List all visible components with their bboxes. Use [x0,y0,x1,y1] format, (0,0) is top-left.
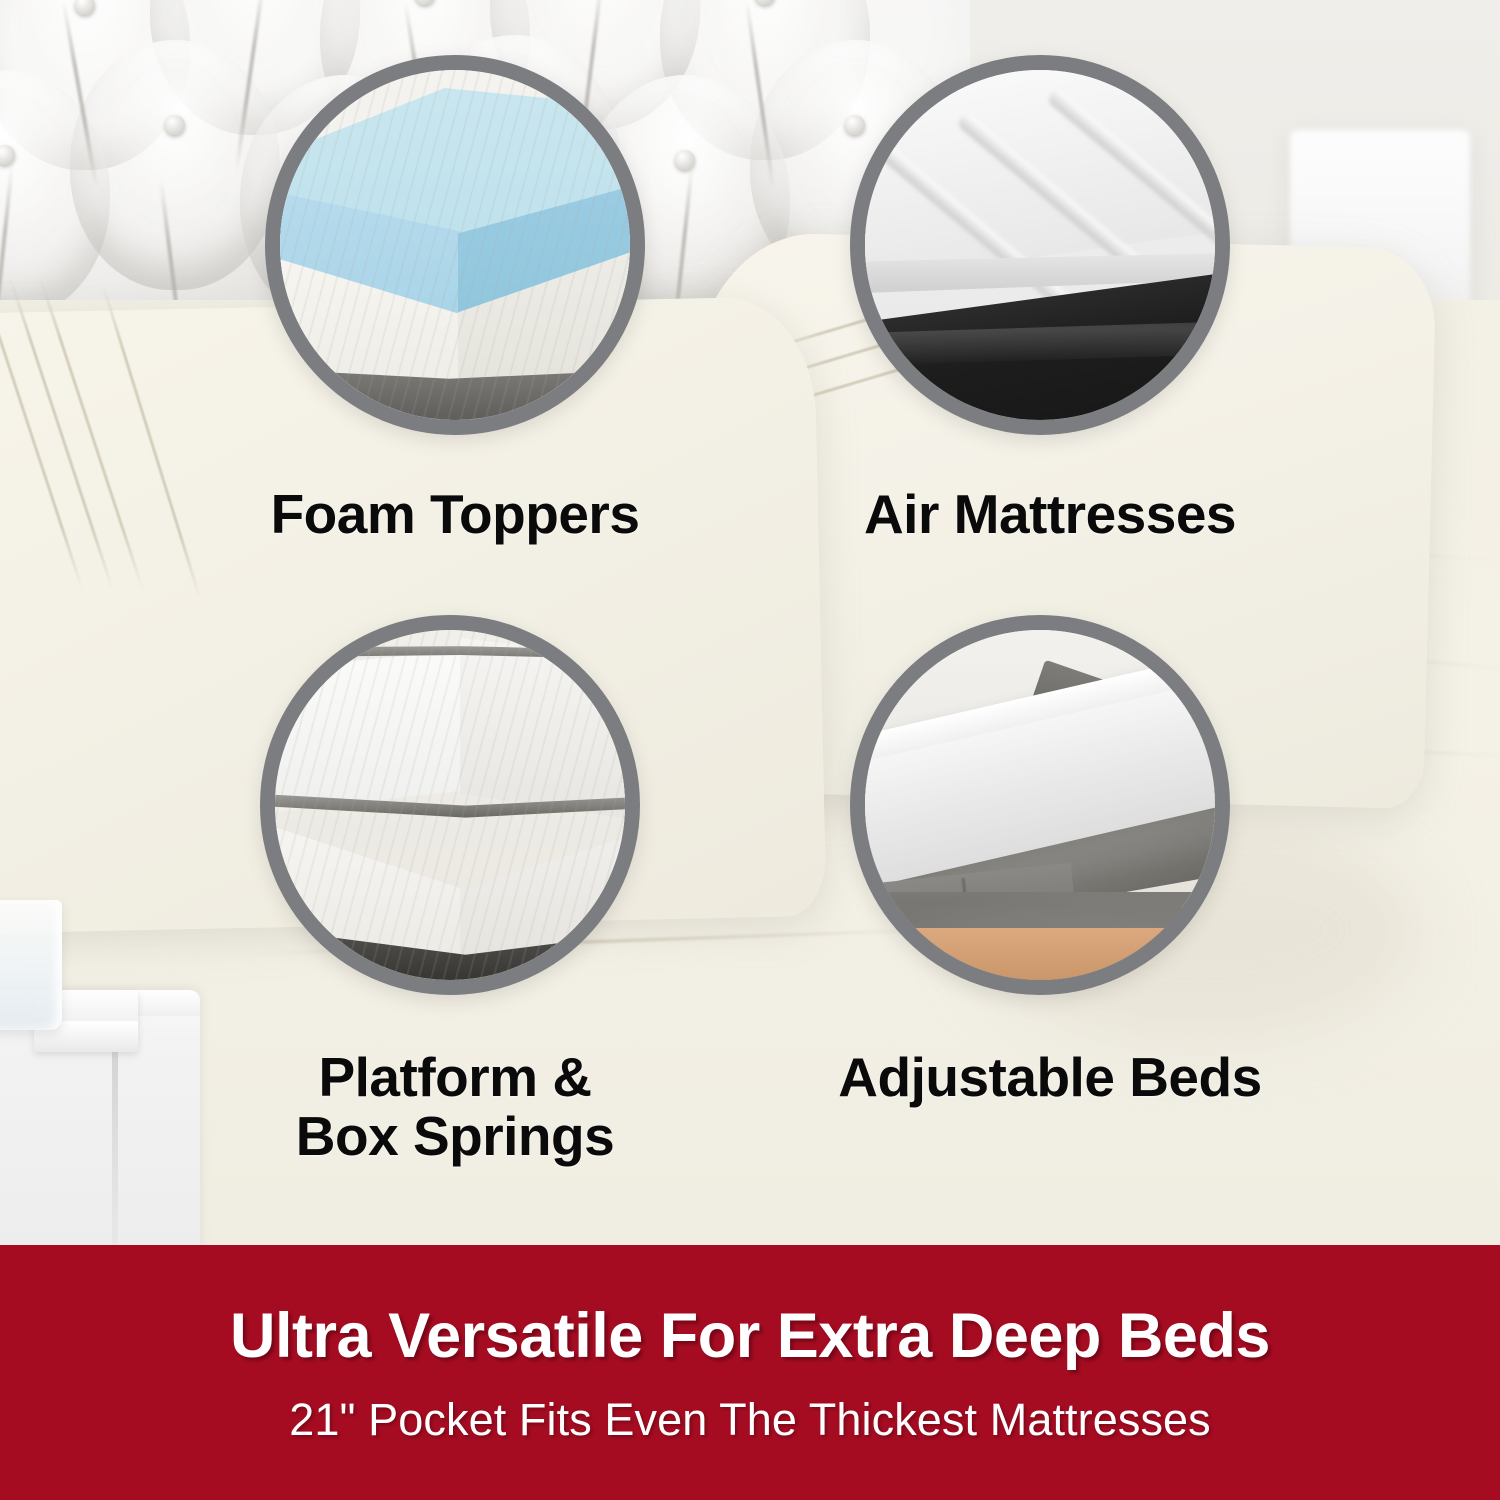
feature-inset-foam-toppers [265,55,645,435]
product-infographic: Foam Toppers Air Mattresses Platform & B… [0,0,1500,1500]
caption-adjustable-beds: Adjustable Beds [760,1048,1340,1107]
foam-topper-photo [280,70,630,420]
feature-inset-platform-box-springs [260,615,640,995]
box-spring-photo [275,630,625,980]
water-glass [0,900,62,1030]
bottom-banner: Ultra Versatile For Extra Deep Beds 21" … [0,1245,1500,1500]
adjustable-bed-photo [865,630,1215,980]
air-mattress-photo [865,70,1215,420]
banner-title: Ultra Versatile For Extra Deep Beds [230,1300,1270,1372]
caption-platform-box-springs: Platform & Box Springs [160,1048,750,1167]
feature-inset-adjustable-beds [850,615,1230,995]
feature-inset-air-mattresses [850,55,1230,435]
caption-foam-toppers: Foam Toppers [165,485,745,544]
caption-air-mattresses: Air Mattresses [760,485,1340,544]
banner-subtitle: 21" Pocket Fits Even The Thickest Mattre… [289,1394,1211,1446]
